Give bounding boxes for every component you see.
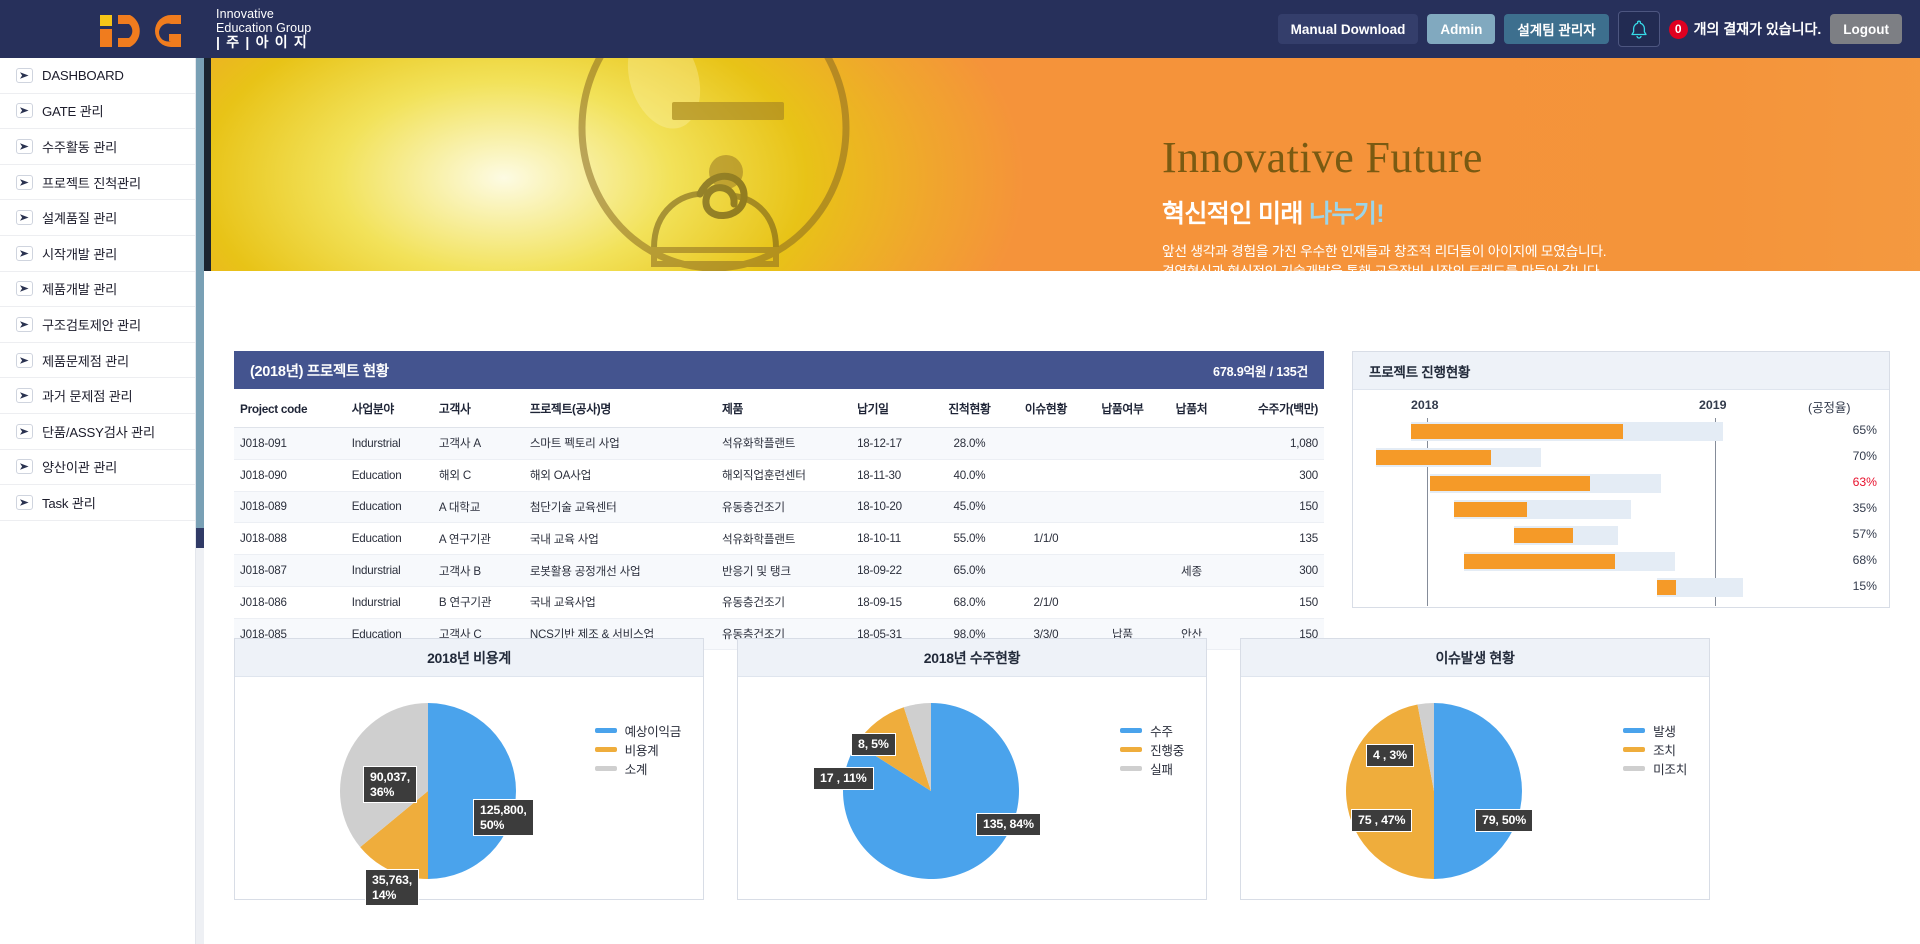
- main-content: Innovative Future 혁신적인 미래 나누기! 앞선 생각과 경험…: [204, 58, 1920, 944]
- arrow-right-icon: [16, 459, 33, 474]
- pie-data-label-1: 79, 50%: [1475, 809, 1533, 832]
- cell-amount: 150: [1222, 586, 1324, 618]
- gantt-chart: 20182019(공정율)65%70%63%35%57%68%15%: [1353, 390, 1889, 608]
- cell-place: [1161, 586, 1223, 618]
- legend-swatch-icon: [595, 766, 617, 771]
- gantt-panel-title: 프로젝트 진행현황: [1369, 361, 1470, 381]
- sidebar-item-label: 시작개발 관리: [42, 244, 117, 263]
- project-panel-title: (2018년) 프로젝트 현황: [250, 360, 389, 381]
- table-row[interactable]: J018-086IndurstrialB 연구기관국내 교육사업유동층건조기18…: [234, 586, 1324, 618]
- cell-progress: 40.0%: [931, 459, 1007, 491]
- cell-name: 국내 교육사업: [524, 586, 716, 618]
- cell-product: 유동층건조기: [716, 491, 851, 523]
- arrow-right-icon: [16, 139, 33, 154]
- legend-label: 소계: [625, 759, 648, 778]
- table-row[interactable]: J018-088EducationA 연구기관국내 교육 사업석유화학플랜트18…: [234, 523, 1324, 555]
- cell-client: A 연구기관: [433, 523, 524, 555]
- sidebar-item-5[interactable]: 설계품질 관리: [0, 200, 195, 236]
- cell-name: 국내 교육 사업: [524, 523, 716, 555]
- cell-name: 로봇활용 공정개선 사업: [524, 555, 716, 587]
- gantt-row-1[interactable]: 65%: [1353, 422, 1889, 441]
- pie-slice-2[interactable]: [1346, 705, 1434, 879]
- cell-delivered: [1084, 491, 1160, 523]
- cell-code: J018-089: [234, 491, 346, 523]
- cell-product: 석유화학플랜트: [716, 428, 851, 460]
- admin-button[interactable]: Admin: [1427, 14, 1495, 44]
- cell-client: A 대학교: [433, 491, 524, 523]
- sidebar-item-label: Task 관리: [42, 493, 96, 512]
- gantt-progress-bar: [1514, 528, 1572, 543]
- sidebar-item-label: 제품문제점 관리: [42, 351, 129, 370]
- gantt-progress-value: 63%: [1827, 475, 1877, 489]
- legend-item-1[interactable]: 예상이익금: [595, 721, 681, 740]
- legend-item-3[interactable]: 미조치: [1623, 759, 1687, 778]
- project-progress-panel: 프로젝트 진행현황 20182019(공정율)65%70%63%35%57%68…: [1352, 351, 1890, 608]
- legend-label: 조치: [1653, 740, 1676, 759]
- idg-logo-icon: [98, 7, 206, 51]
- gantt-progress-value: 65%: [1827, 423, 1877, 437]
- cell-due: 18-10-20: [851, 491, 931, 523]
- gantt-row-6[interactable]: 68%: [1353, 552, 1889, 571]
- cell-field: Education: [346, 459, 433, 491]
- issues-pie-body: 발생조치미조치79, 50%75 , 47%4 , 3%: [1241, 677, 1709, 899]
- pie-data-label-1: 125,800, 50%: [473, 799, 534, 836]
- axis-label-2019: 2019: [1699, 398, 1727, 412]
- cell-due: 18-12-17: [851, 428, 931, 460]
- cell-name: 해외 OA사업: [524, 459, 716, 491]
- pie-chart: [323, 691, 533, 891]
- cell-issue: 1/1/0: [1008, 523, 1084, 555]
- project-status-panel: (2018년) 프로젝트 현황 678.9억원 / 135건 Project c…: [234, 351, 1324, 608]
- project-table: Project code사업분야고객사프로젝트(공사)명제품납기일진척현황이슈현…: [234, 389, 1324, 650]
- project-panel-header: (2018년) 프로젝트 현황 678.9억원 / 135건: [234, 351, 1324, 389]
- cell-code: J018-090: [234, 459, 346, 491]
- design-team-manager-button[interactable]: 설계팀 관리자: [1504, 14, 1608, 44]
- approval-alert-text: 개의 결재가 있습니다.: [1694, 19, 1822, 39]
- cost-pie-panel: 2018년 비용계 예상이익금비용계소계125,800, 50%35,763, …: [234, 638, 704, 900]
- logout-button[interactable]: Logout: [1830, 14, 1902, 44]
- gantt-row-3[interactable]: 63%: [1353, 474, 1889, 493]
- sidebar-item-2[interactable]: GATE 관리: [0, 94, 195, 130]
- legend-label: 발생: [1653, 721, 1676, 740]
- issues-pie-header: 이슈발생 현황: [1241, 639, 1709, 677]
- cell-place: [1161, 523, 1223, 555]
- sidebar-nav: DASHBOARDGATE 관리수주활동 관리프로젝트 진척관리설계품질 관리시…: [0, 58, 196, 944]
- cell-field: Indurstrial: [346, 428, 433, 460]
- cell-progress: 55.0%: [931, 523, 1007, 555]
- column-header-5: 제품: [716, 389, 851, 428]
- arrow-right-icon: [16, 317, 33, 332]
- cell-code: J018-091: [234, 428, 346, 460]
- sidebar-item-6[interactable]: 시작개발 관리: [0, 236, 195, 272]
- cell-product: 해외직업훈련센터: [716, 459, 851, 491]
- sidebar-item-label: 설계품질 관리: [42, 208, 117, 227]
- sidebar-item-8[interactable]: 구조검토제안 관리: [0, 307, 195, 343]
- table-row[interactable]: J018-090Education해외 C해외 OA사업해외직업훈련센터18-1…: [234, 459, 1324, 491]
- pie-slice-1[interactable]: [428, 703, 516, 879]
- legend-label: 미조치: [1653, 759, 1687, 778]
- arrow-right-icon: [16, 246, 33, 261]
- legend-item-3[interactable]: 소계: [595, 759, 681, 778]
- legend-swatch-icon: [1120, 766, 1142, 771]
- sidebar-item-label: 과거 문제점 관리: [42, 386, 132, 405]
- orders-pie-title: 2018년 수주현황: [924, 648, 1020, 668]
- legend-swatch-icon: [1120, 747, 1142, 752]
- legend-swatch-icon: [595, 728, 617, 733]
- gantt-progress-bar: [1376, 450, 1491, 465]
- pie-chart: [826, 691, 1036, 891]
- cell-delivered: [1084, 586, 1160, 618]
- arrow-right-icon: [16, 353, 33, 368]
- gantt-progress-value: 15%: [1827, 579, 1877, 593]
- cell-field: Education: [346, 523, 433, 555]
- gantt-panel-header: 프로젝트 진행현황: [1353, 352, 1889, 390]
- sidebar-item-label: GATE 관리: [42, 101, 103, 120]
- legend-swatch-icon: [1623, 766, 1645, 771]
- cell-client: 고객사 B: [433, 555, 524, 587]
- gantt-progress-bar: [1657, 580, 1675, 595]
- bell-icon[interactable]: [1618, 11, 1660, 47]
- sidebar-item-7[interactable]: 제품개발 관리: [0, 272, 195, 308]
- pie-data-label-2: 75 , 47%: [1351, 809, 1412, 832]
- pie-chart: [1329, 691, 1539, 891]
- cell-progress: 28.0%: [931, 428, 1007, 460]
- issues-pie-panel: 이슈발생 현황 발생조치미조치79, 50%75 , 47%4 , 3%: [1240, 638, 1710, 900]
- pie-legend: 발생조치미조치: [1623, 721, 1687, 778]
- column-header-7: 진척현황: [931, 389, 1007, 428]
- manual-download-button[interactable]: Manual Download: [1278, 14, 1419, 44]
- cell-delivered: [1084, 428, 1160, 460]
- banner-title: Innovative Future: [1162, 136, 1862, 180]
- project-panel-summary: 678.9억원 / 135건: [1213, 361, 1308, 380]
- cell-client: B 연구기관: [433, 586, 524, 618]
- cell-issue: [1008, 459, 1084, 491]
- cost-pie-header: 2018년 비용계: [235, 639, 703, 677]
- cell-product: 석유화학플랜트: [716, 523, 851, 555]
- banner-desc-line-2: 경영혁신과 혁신적인 기술개발을 통해 교육장비 시장의 트렌드를 만들어 갑니…: [1162, 262, 1862, 271]
- sidebar-item-12[interactable]: 양산이관 관리: [0, 450, 195, 486]
- arrow-right-icon: [16, 281, 33, 296]
- cell-name: 첨단기술 교육센터: [524, 491, 716, 523]
- cell-amount: 150: [1222, 491, 1324, 523]
- brand-logo[interactable]: Innovative Education Group | 주 | 아 이 지: [98, 7, 311, 51]
- table-row[interactable]: J018-091Indurstrial고객사 A스마트 펙토리 사업석유화학플랜…: [234, 428, 1324, 460]
- cell-progress: 68.0%: [931, 586, 1007, 618]
- arrow-right-icon: [16, 495, 33, 510]
- cell-amount: 135: [1222, 523, 1324, 555]
- cost-pie-body: 예상이익금비용계소계125,800, 50%35,763, 14%90,037,…: [235, 677, 703, 899]
- cell-place: [1161, 491, 1223, 523]
- cell-code: J018-087: [234, 555, 346, 587]
- cell-field: Education: [346, 491, 433, 523]
- sidebar-item-label: 구조검토제안 관리: [42, 315, 141, 334]
- logo-line-2: Education Group: [216, 21, 311, 35]
- lightbulb-illustration-icon: [504, 58, 924, 271]
- cell-amount: 300: [1222, 555, 1324, 587]
- gantt-progress-value: 57%: [1827, 527, 1877, 541]
- legend-swatch-icon: [1623, 747, 1645, 752]
- cell-progress: 65.0%: [931, 555, 1007, 587]
- cell-issue: [1008, 555, 1084, 587]
- cell-progress: 45.0%: [931, 491, 1007, 523]
- top-header-bar: Innovative Education Group | 주 | 아 이 지 M…: [0, 0, 1920, 58]
- legend-label: 수주: [1150, 721, 1173, 740]
- cell-delivered: [1084, 459, 1160, 491]
- legend-label: 예상이익금: [625, 721, 681, 740]
- legend-swatch-icon: [595, 747, 617, 752]
- orders-pie-panel: 2018년 수주현황 수주진행중실패135, 84%17 , 11%8, 5%: [737, 638, 1207, 900]
- gantt-row-7[interactable]: 15%: [1353, 578, 1889, 597]
- column-header-10: 납품처: [1161, 389, 1223, 428]
- cost-pie-title: 2018년 비용계: [427, 648, 511, 668]
- gantt-axis: 20182019(공정율): [1353, 390, 1889, 420]
- column-header-2: 사업분야: [346, 389, 433, 428]
- pie-slice-1[interactable]: [1434, 703, 1522, 879]
- legend-label: 실패: [1150, 759, 1173, 778]
- sidebar-item-11[interactable]: 단품/ASSY검사 관리: [0, 414, 195, 450]
- cell-amount: 1,080: [1222, 428, 1324, 460]
- legend-item-2[interactable]: 비용계: [595, 740, 681, 759]
- legend-item-2[interactable]: 조치: [1623, 740, 1687, 759]
- cell-client: 고객사 A: [433, 428, 524, 460]
- sidebar-item-label: 수주활동 관리: [42, 137, 117, 156]
- cell-due: 18-11-30: [851, 459, 931, 491]
- cell-issue: 2/1/0: [1008, 586, 1084, 618]
- legend-swatch-icon: [1623, 728, 1645, 733]
- cell-field: Indurstrial: [346, 586, 433, 618]
- logo-line-3: | 주 | 아 이 지: [216, 35, 311, 51]
- cell-amount: 300: [1222, 459, 1324, 491]
- table-row[interactable]: J018-087Indurstrial고객사 B로봇활용 공정개선 사업반응기 …: [234, 555, 1324, 587]
- gantt-progress-bar: [1464, 554, 1615, 569]
- gantt-row-5[interactable]: 57%: [1353, 526, 1889, 545]
- logo-line-1: Innovative: [216, 7, 311, 21]
- gantt-progress-value: 70%: [1827, 449, 1877, 463]
- approval-count-badge: 0: [1669, 20, 1688, 39]
- arrow-right-icon: [16, 424, 33, 439]
- legend-label: 진행중: [1150, 740, 1184, 759]
- cell-due: 18-09-15: [851, 586, 931, 618]
- banner-subtitle-main: 혁신적인 미래: [1162, 200, 1309, 228]
- cell-code: J018-086: [234, 586, 346, 618]
- legend-label: 비용계: [625, 740, 659, 759]
- banner-subtitle: 혁신적인 미래 나누기!: [1162, 194, 1862, 230]
- cell-delivered: [1084, 555, 1160, 587]
- gantt-progress-value: 68%: [1827, 553, 1877, 567]
- legend-item-1[interactable]: 발생: [1623, 721, 1687, 740]
- project-table-head: Project code사업분야고객사프로젝트(공사)명제품납기일진척현황이슈현…: [234, 389, 1324, 428]
- cell-client: 해외 C: [433, 459, 524, 491]
- gantt-progress-value: 35%: [1827, 501, 1877, 515]
- pie-data-label-2: 35,763, 14%: [365, 869, 419, 906]
- cell-field: Indurstrial: [346, 555, 433, 587]
- cell-place: [1161, 459, 1223, 491]
- column-header-11: 수주가(백만): [1222, 389, 1324, 428]
- sidebar-item-label: DASHBOARD: [42, 68, 124, 83]
- sidebar-item-1[interactable]: DASHBOARD: [0, 58, 195, 94]
- cell-issue: [1008, 491, 1084, 523]
- banner-subtitle-highlight: 나누기!: [1309, 200, 1384, 228]
- pie-legend: 수주진행중실패: [1120, 721, 1184, 778]
- sidebar-item-label: 양산이관 관리: [42, 457, 117, 476]
- table-header-row: Project code사업분야고객사프로젝트(공사)명제품납기일진척현황이슈현…: [234, 389, 1324, 428]
- column-header-9: 납품여부: [1084, 389, 1160, 428]
- sidebar-scrollbar[interactable]: [196, 58, 204, 944]
- legend-swatch-icon: [1120, 728, 1142, 733]
- project-table-body: J018-091Indurstrial고객사 A스마트 펙토리 사업석유화학플랜…: [234, 428, 1324, 650]
- banner-left-strip: [204, 58, 211, 271]
- sidebar-item-3[interactable]: 수주활동 관리: [0, 129, 195, 165]
- pie-data-label-2: 17 , 11%: [813, 767, 874, 790]
- sidebar-item-label: 프로젝트 진척관리: [42, 173, 141, 192]
- sidebar-item-10[interactable]: 과거 문제점 관리: [0, 378, 195, 414]
- top-actions: Manual Download Admin 설계팀 관리자 0 개의 결재가 있…: [1278, 0, 1902, 58]
- arrow-right-icon: [16, 103, 33, 118]
- column-header-6: 납기일: [851, 389, 931, 428]
- banner-desc-line-1: 앞선 생각과 경험을 가진 우수한 인재들과 창조적 리더들이 아이지에 모였습…: [1162, 242, 1862, 262]
- axis-label-2018: 2018: [1411, 398, 1439, 412]
- table-row[interactable]: J018-089EducationA 대학교첨단기술 교육센터유동층건조기18-…: [234, 491, 1324, 523]
- sidebar-item-label: 제품개발 관리: [42, 279, 117, 298]
- cell-code: J018-088: [234, 523, 346, 555]
- cell-issue: [1008, 428, 1084, 460]
- pie-data-label-3: 8, 5%: [851, 733, 896, 756]
- legend-item-3[interactable]: 실패: [1120, 759, 1184, 778]
- gantt-row-2[interactable]: 70%: [1353, 448, 1889, 467]
- column-header-8: 이슈현황: [1008, 389, 1084, 428]
- orders-pie-body: 수주진행중실패135, 84%17 , 11%8, 5%: [738, 677, 1206, 899]
- cell-delivered: [1084, 523, 1160, 555]
- banner-description: 앞선 생각과 경험을 가진 우수한 인재들과 창조적 리더들이 아이지에 모였습…: [1162, 242, 1862, 271]
- cell-product: 반응기 및 탱크: [716, 555, 851, 587]
- column-header-4: 프로젝트(공사)명: [524, 389, 716, 428]
- sidebar-item-13[interactable]: Task 관리: [0, 485, 195, 521]
- cell-place: [1161, 428, 1223, 460]
- cell-due: 18-09-22: [851, 555, 931, 587]
- gantt-progress-bar: [1430, 476, 1590, 491]
- cell-due: 18-10-11: [851, 523, 931, 555]
- gantt-progress-bar: [1411, 424, 1623, 439]
- sidebar-item-4[interactable]: 프로젝트 진척관리: [0, 165, 195, 201]
- cell-name: 스마트 펙토리 사업: [524, 428, 716, 460]
- issues-pie-title: 이슈발생 현황: [1435, 648, 1514, 668]
- gantt-row-4[interactable]: 35%: [1353, 500, 1889, 519]
- column-header-3: 고객사: [433, 389, 524, 428]
- sidebar-item-label: 단품/ASSY검사 관리: [42, 422, 155, 441]
- orders-pie-header: 2018년 수주현황: [738, 639, 1206, 677]
- legend-item-2[interactable]: 진행중: [1120, 740, 1184, 759]
- column-header-1: Project code: [234, 389, 346, 428]
- legend-item-1[interactable]: 수주: [1120, 721, 1184, 740]
- arrow-right-icon: [16, 175, 33, 190]
- pie-data-label-3: 4 , 3%: [1366, 744, 1414, 767]
- pie-data-label-3: 90,037, 36%: [363, 766, 417, 803]
- cell-place: 세종: [1161, 555, 1223, 587]
- gantt-progress-bar: [1454, 502, 1527, 517]
- arrow-right-icon: [16, 210, 33, 225]
- pie-legend: 예상이익금비용계소계: [595, 721, 681, 778]
- hero-banner: Innovative Future 혁신적인 미래 나누기! 앞선 생각과 경험…: [204, 58, 1920, 271]
- banner-text-block: Innovative Future 혁신적인 미래 나누기! 앞선 생각과 경험…: [1162, 136, 1862, 271]
- scrollbar-thumb[interactable]: [196, 58, 204, 538]
- pie-data-label-1: 135, 84%: [976, 813, 1041, 836]
- cell-product: 유동층건조기: [716, 586, 851, 618]
- scrollbar-cap-bottom: [196, 528, 204, 548]
- arrow-right-icon: [16, 68, 33, 83]
- sidebar-item-9[interactable]: 제품문제점 관리: [0, 343, 195, 379]
- approval-alert[interactable]: 0 개의 결재가 있습니다.: [1618, 9, 1822, 49]
- arrow-right-icon: [16, 388, 33, 403]
- axis-label-progress-rate: (공정율): [1808, 398, 1850, 416]
